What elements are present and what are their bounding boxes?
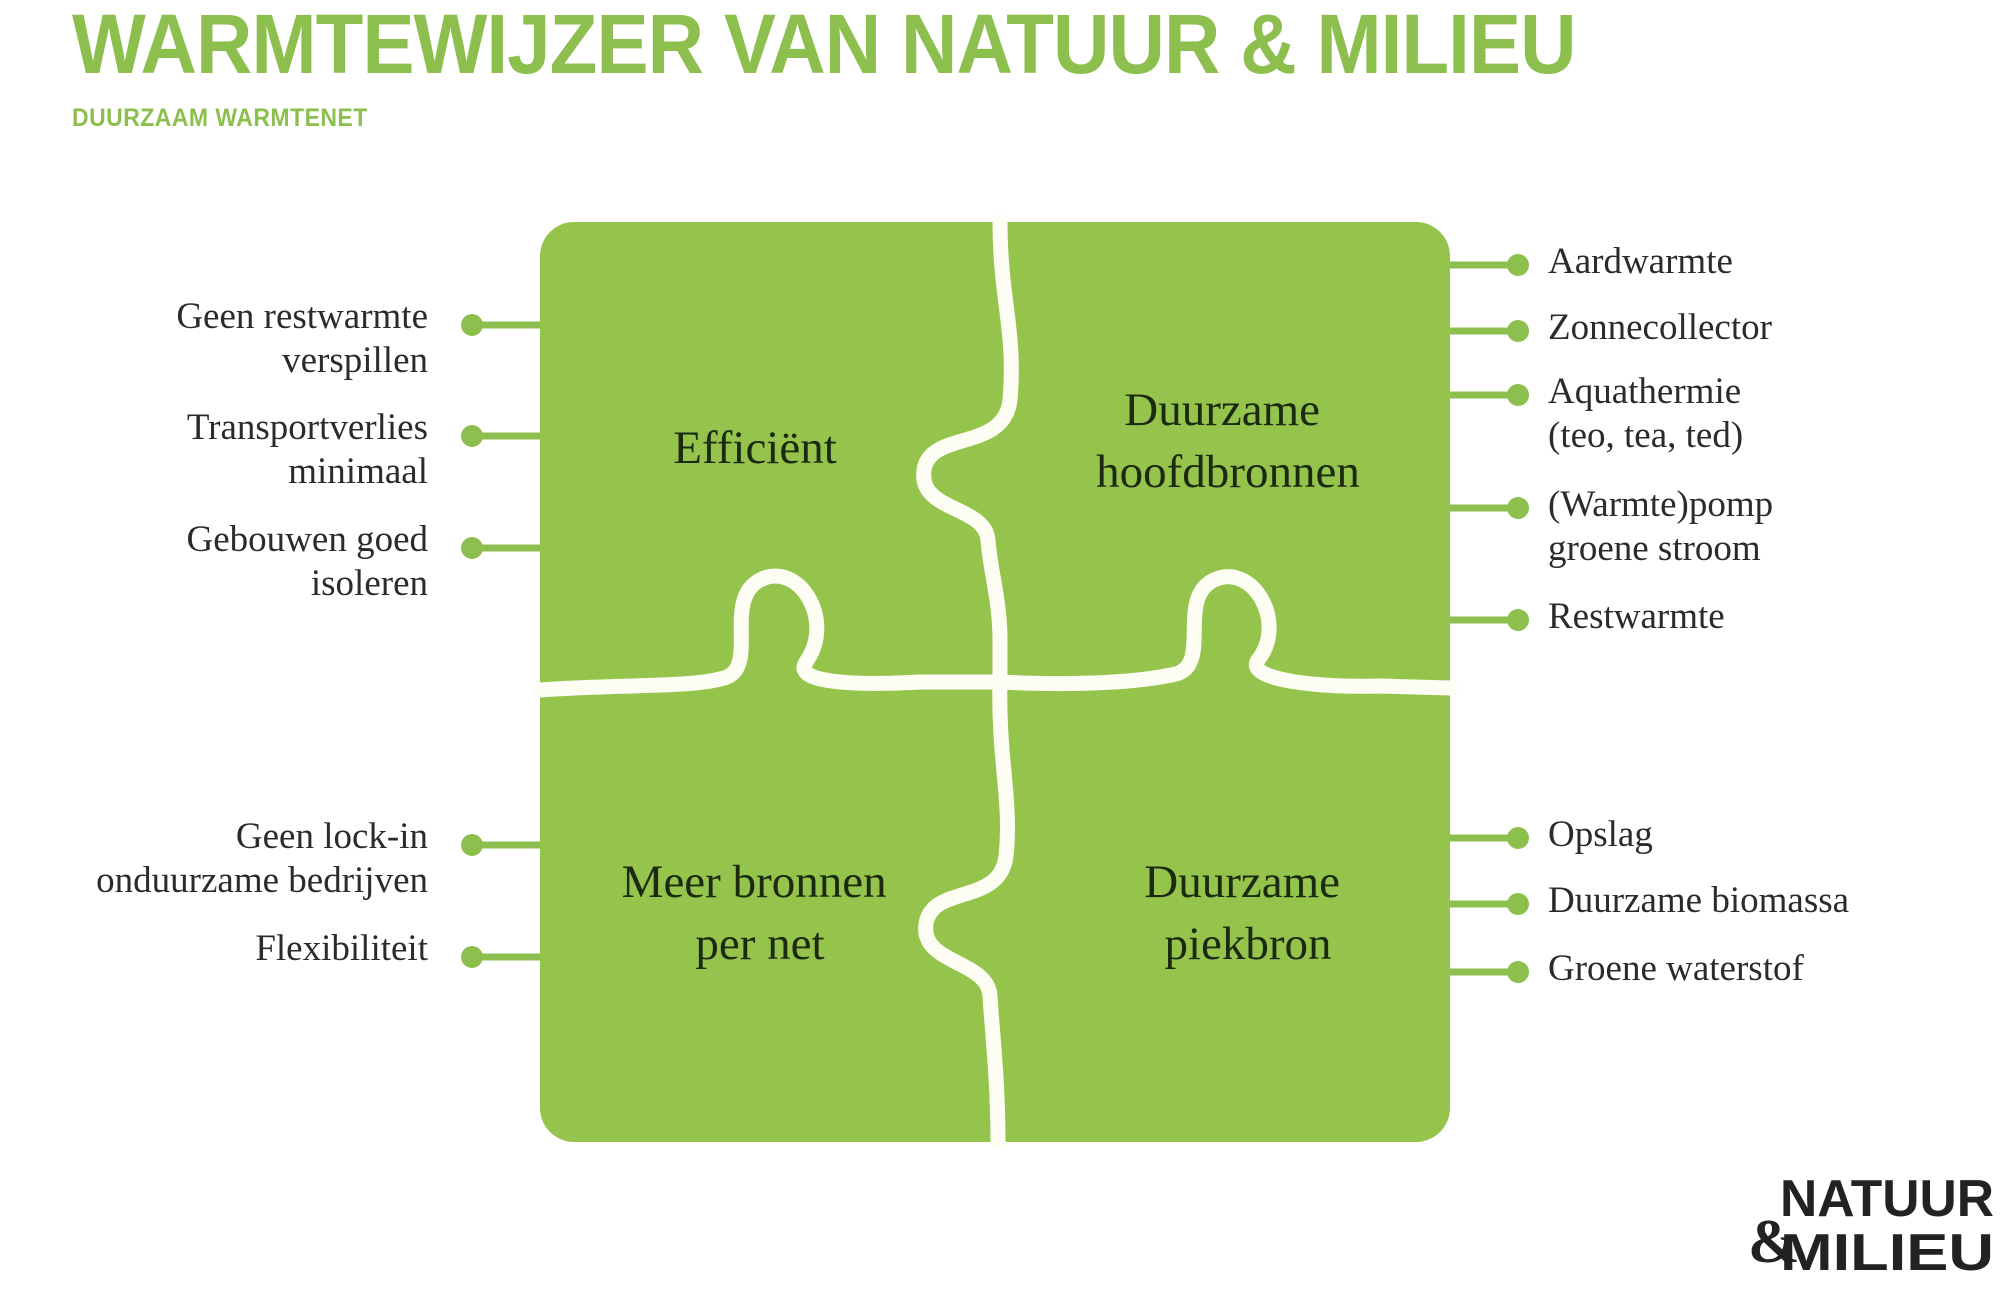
callout-warmtepomp-line2: groene stroom [1548, 527, 1773, 571]
callout-gebouwen-isoleren-line2: isoleren [187, 562, 428, 606]
connector-dot-opslag [1507, 827, 1529, 849]
callout-transportverlies-line1: Transportverlies [187, 406, 428, 450]
callout-aquathermie: Aquathermie (teo, tea, ted) [1548, 370, 1743, 457]
puzzle-diagram: Efficiënt Duurzame hoofdbronnen Meer bro… [0, 0, 2000, 1296]
callout-duurzame-biomassa: Duurzame biomassa [1548, 879, 1849, 923]
piece-efficient-line1: Efficiënt [673, 422, 837, 474]
callout-groene-waterstof: Groene waterstof [1548, 947, 1804, 991]
callout-geen-restwarmte-line1: Geen restwarmte [176, 295, 428, 339]
connector-dot-transportverlies [461, 425, 483, 447]
callout-zonnecollector: Zonnecollector [1548, 306, 1772, 350]
callout-geen-restwarmte-line2: verspillen [176, 339, 428, 383]
connector-dot-restwarmte [1507, 609, 1529, 631]
callout-warmtepomp-line1: (Warmte)pomp [1548, 483, 1773, 527]
piece-label-efficient: Efficiënt [673, 422, 837, 474]
piece-meerbronnen-line2: per net [695, 918, 824, 970]
callout-geen-restwarmte: Geen restwarmte verspillen [176, 295, 428, 382]
connector-dot-geen-lock-in [461, 834, 483, 856]
callout-gebouwen-isoleren: Gebouwen goed isoleren [187, 518, 428, 605]
callout-duurzame-biomassa-line1: Duurzame biomassa [1548, 879, 1849, 923]
callout-flexibiliteit-line1: Flexibiliteit [255, 927, 428, 971]
callout-zonnecollector-line1: Zonnecollector [1548, 306, 1772, 350]
piece-piekbron-line2: piekbron [1164, 918, 1331, 970]
callout-aquathermie-line2: (teo, tea, ted) [1548, 414, 1743, 458]
connector-dot-aardwarmte [1507, 254, 1529, 276]
connectors-left-bottom [461, 834, 540, 968]
piece-meerbronnen-line1: Meer bronnen [622, 856, 887, 908]
connector-dot-duurzame-biomassa [1507, 893, 1529, 915]
callout-geen-lock-in: Geen lock-in onduurzame bedrijven [96, 815, 428, 902]
callout-transportverlies: Transportverlies minimaal [187, 406, 428, 493]
callout-aardwarmte-line1: Aardwarmte [1548, 240, 1733, 284]
logo-line1: NATUUR [1780, 1170, 1994, 1228]
callout-aardwarmte: Aardwarmte [1548, 240, 1733, 284]
natuur-en-milieu-logo: & NATUUR MILIEU [1746, 1158, 1996, 1288]
connector-dot-groene-waterstof [1507, 961, 1529, 983]
callout-geen-lock-in-line1: Geen lock-in [96, 815, 428, 859]
connector-dot-aquathermie [1507, 384, 1529, 406]
callout-groene-waterstof-line1: Groene waterstof [1548, 947, 1804, 991]
piece-hoofdbronnen-line1: Duurzame [1124, 384, 1320, 436]
connector-dot-gebouwen-isoleren [461, 537, 483, 559]
connector-dot-warmtepomp [1507, 497, 1529, 519]
callout-opslag-line1: Opslag [1548, 813, 1653, 857]
infographic-canvas: WARMTEWIJZER VAN NATUUR & MILIEU DUURZAA… [0, 0, 2000, 1296]
callout-restwarmte-line1: Restwarmte [1548, 595, 1725, 639]
callout-flexibiliteit: Flexibiliteit [255, 927, 428, 971]
piece-piekbron-line1: Duurzame [1144, 856, 1340, 908]
connectors-right-top [1450, 254, 1529, 631]
callout-gebouwen-isoleren-line1: Gebouwen goed [187, 518, 428, 562]
connectors-left-top [461, 314, 540, 559]
callout-opslag: Opslag [1548, 813, 1653, 857]
connector-dot-geen-restwarmte [461, 314, 483, 336]
logo-line2: MILIEU [1780, 1224, 1994, 1282]
callout-transportverlies-line2: minimaal [187, 450, 428, 494]
connector-dot-flexibiliteit [461, 946, 483, 968]
callout-aquathermie-line1: Aquathermie [1548, 370, 1743, 414]
piece-hoofdbronnen-line2: hoofdbronnen [1096, 446, 1360, 498]
callout-geen-lock-in-line2: onduurzame bedrijven [96, 859, 428, 903]
connectors-right-bottom [1450, 827, 1529, 983]
callout-restwarmte: Restwarmte [1548, 595, 1725, 639]
connector-dot-zonnecollector [1507, 320, 1529, 342]
callout-warmtepomp: (Warmte)pomp groene stroom [1548, 483, 1773, 570]
